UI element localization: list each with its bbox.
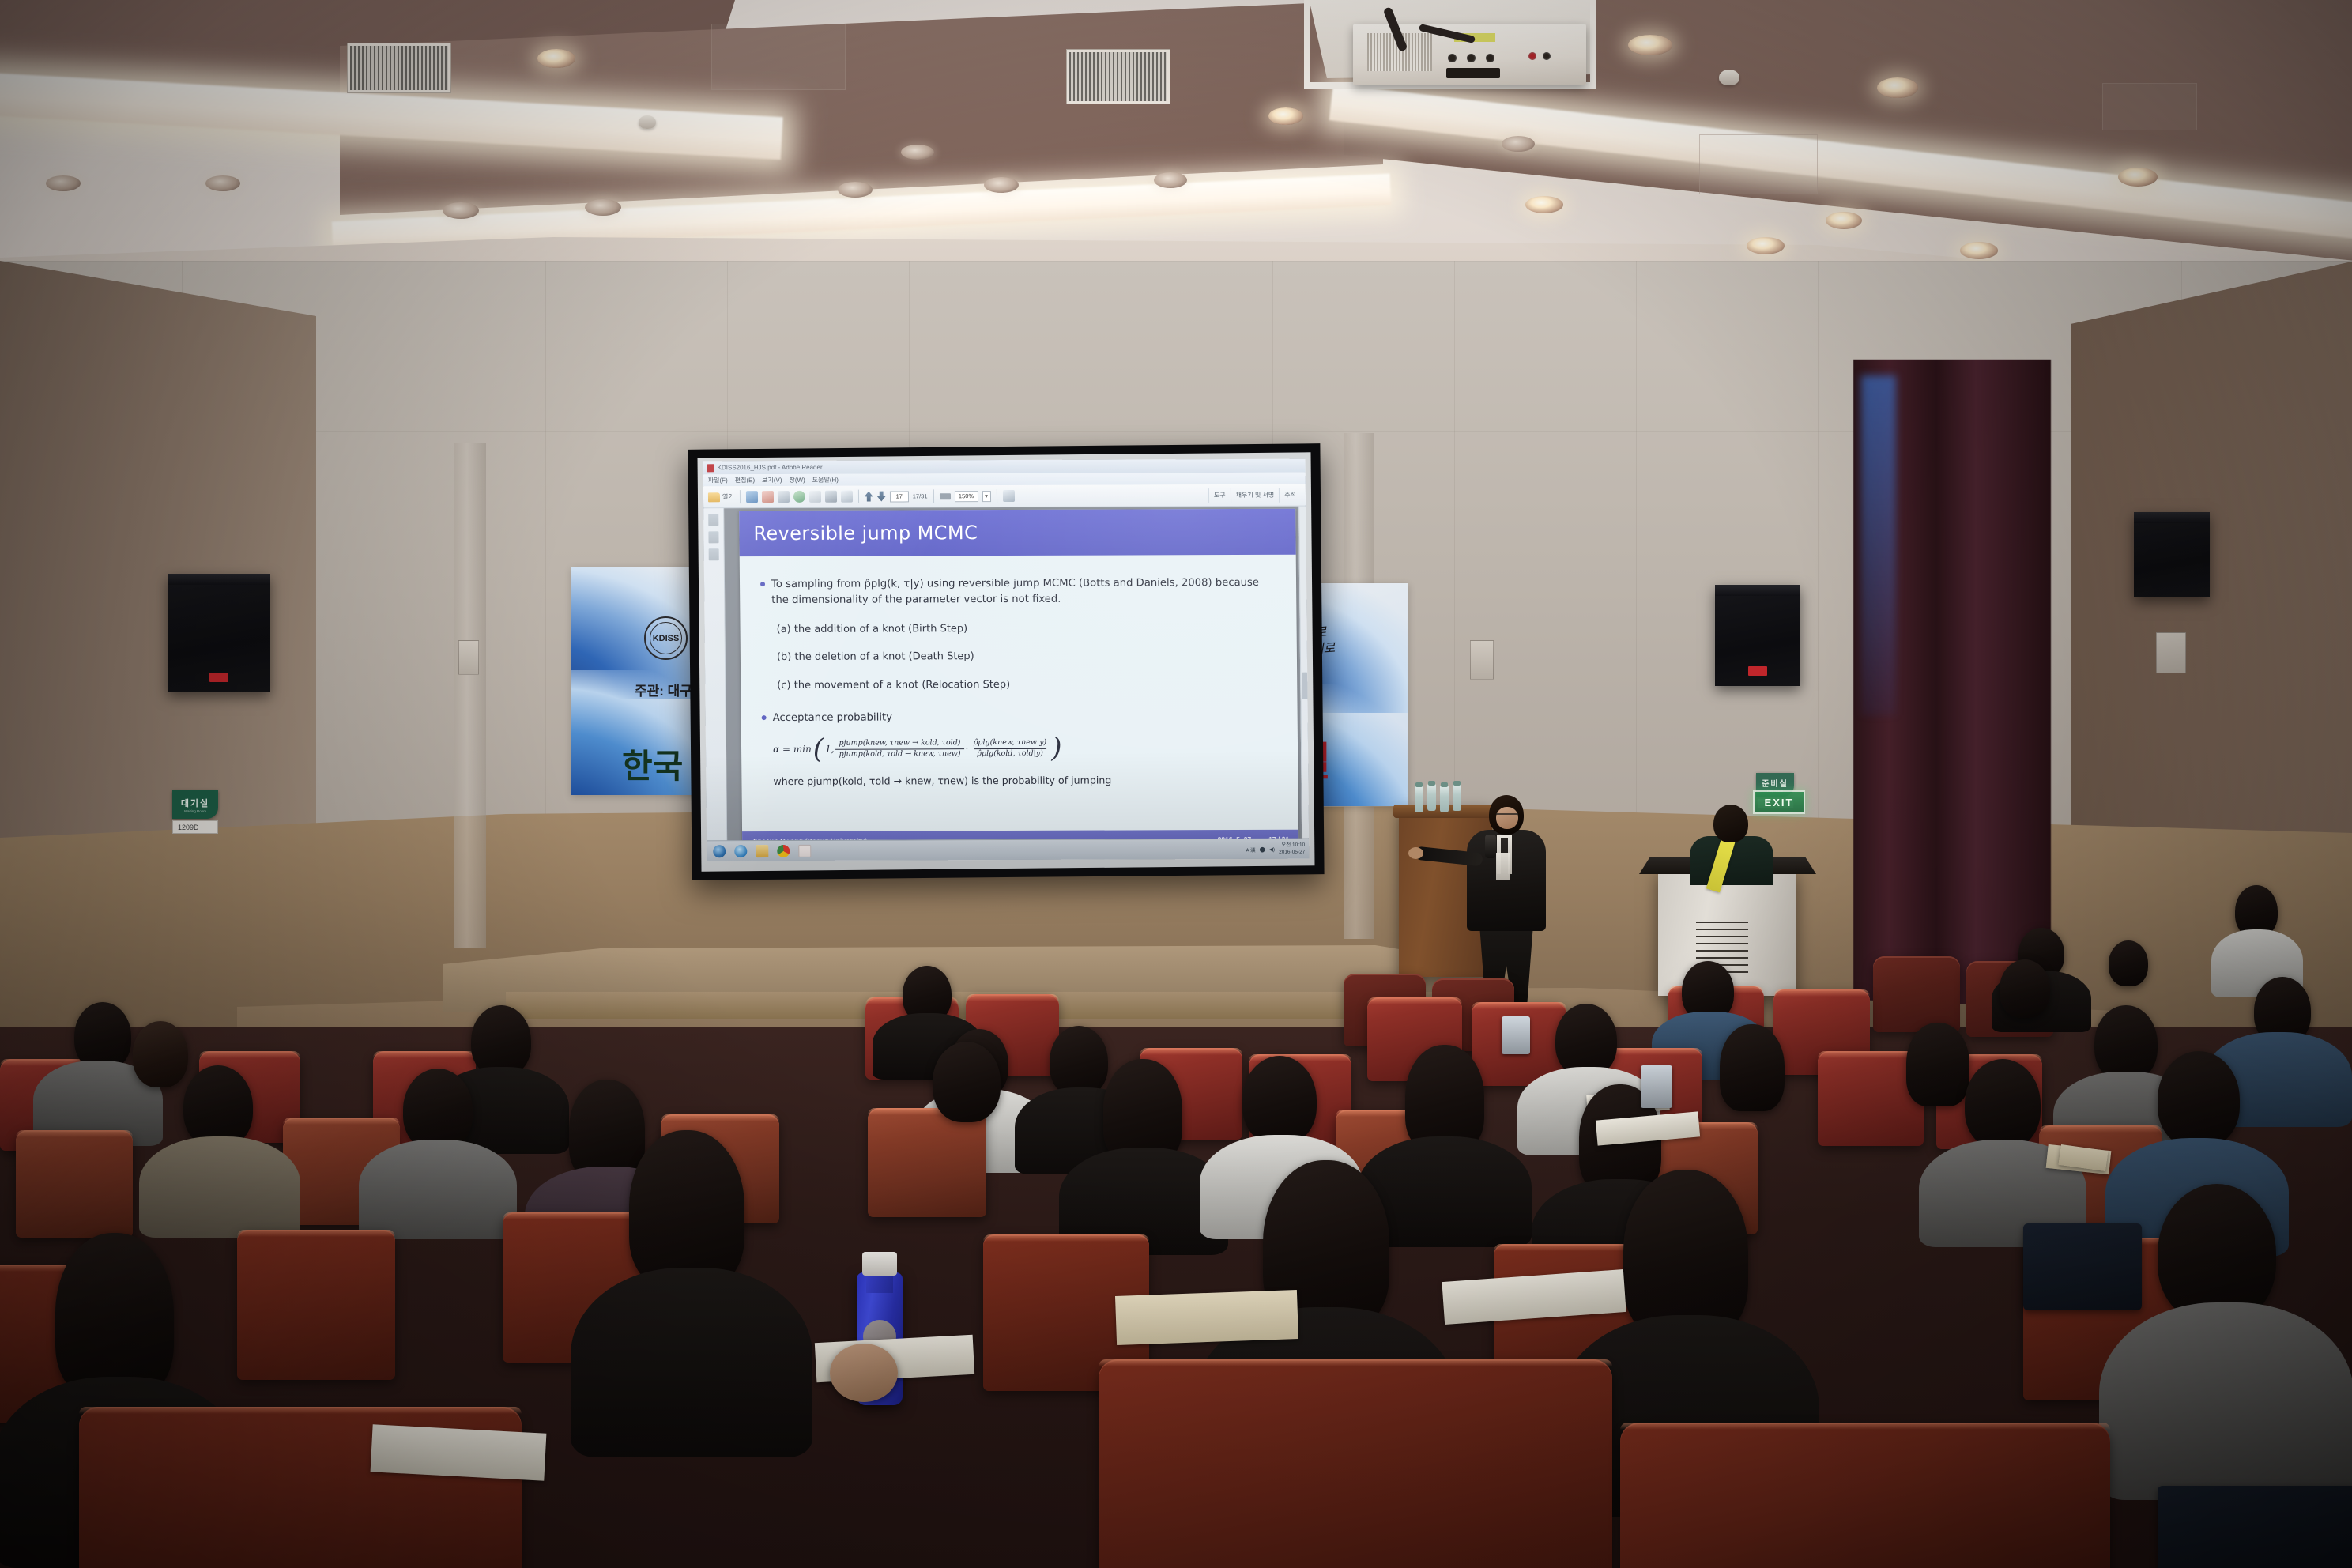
pdf-document-canvas[interactable]: Reversible jump MCMC To sampling from p̂… <box>724 507 1302 841</box>
seat[interactable] <box>1873 956 1960 1032</box>
hvac-vent-icon <box>348 43 450 92</box>
open-button-label: 열기 <box>722 492 734 501</box>
clock-time: 오전 10:10 <box>1281 842 1305 849</box>
seat-rim <box>16 1130 133 1137</box>
seat-rim <box>1472 1002 1566 1009</box>
seat-rim <box>373 1051 476 1058</box>
toolbar-separator <box>996 489 997 503</box>
seat[interactable] <box>1099 1359 1612 1568</box>
page-number-input[interactable]: 17 <box>890 491 909 502</box>
smartphone[interactable] <box>1502 1016 1530 1054</box>
menu-item-help[interactable]: 도움말(H) <box>812 476 839 484</box>
attendee-head <box>629 1130 744 1288</box>
attendee-head <box>1623 1170 1748 1339</box>
kdiss-seal-logo: KDISS <box>644 616 688 660</box>
wall-switch-plate[interactable] <box>458 640 479 675</box>
projector-lens-icon <box>1446 68 1500 78</box>
smartphone[interactable] <box>1641 1065 1672 1108</box>
page-total-label: 17/31 <box>913 492 928 499</box>
staff-member-head <box>1713 805 1748 842</box>
tools-button[interactable]: 도구 <box>1208 488 1231 503</box>
ceiling-access-panel <box>2102 83 2197 130</box>
curtain-blue-light <box>1861 375 1896 715</box>
tray-volume-icon[interactable]: ◀) <box>1269 846 1275 852</box>
projector-port-red <box>1528 52 1536 60</box>
wall-speaker-left <box>168 574 270 692</box>
seat[interactable] <box>868 1108 986 1217</box>
projector-port <box>1486 54 1494 62</box>
fit-page-icon[interactable] <box>1002 490 1014 502</box>
attendee-shoulders <box>359 1140 517 1239</box>
fill-and-sign-button[interactable]: 채우기 및 서명 <box>1231 488 1280 502</box>
attendee-head <box>1242 1056 1317 1144</box>
scrollbar-thumb[interactable] <box>1302 673 1307 699</box>
ceiling-downlight <box>537 49 575 68</box>
attendee-head <box>2158 1051 2240 1148</box>
screen-surface: KDISS2016_HJS.pdf - Adobe Reader – □ ✕ 파… <box>698 452 1315 871</box>
slide-bullet-2: Acceptance probability <box>762 709 1274 726</box>
seat-rim <box>661 1114 779 1121</box>
exit-sign: EXIT <box>1753 790 1805 814</box>
formula-dot: · <box>965 744 968 755</box>
ceiling-downlight <box>2118 168 2158 187</box>
water-bottle <box>1453 784 1461 811</box>
attendee-head <box>933 1042 1001 1122</box>
toolbar-separator <box>740 490 741 503</box>
menu-item-edit[interactable]: 편집(E) <box>735 476 755 484</box>
comment-button[interactable]: 주석 <box>1279 488 1301 502</box>
seat-rim <box>1367 997 1462 1004</box>
wall-speaker-right <box>1715 585 1800 686</box>
ceiling-downlight <box>46 175 81 191</box>
speaker-top <box>168 574 270 585</box>
slide-bullet-1-text: To sampling from p̂plg(k, τ|y) using rev… <box>771 575 1272 609</box>
slide-title: Reversible jump MCMC <box>739 509 1296 556</box>
laptop-bag[interactable] <box>2023 1223 2142 1310</box>
projection-screen: KDISS2016_HJS.pdf - Adobe Reader – □ ✕ 파… <box>688 443 1324 880</box>
formula-one: 1, <box>825 744 835 755</box>
menu-item-file[interactable]: 파일(F) <box>708 476 728 484</box>
system-tray[interactable]: A 漢 ⬤ ◀) 오전 10:10 2016-05-27 <box>1246 842 1309 856</box>
attendee-head <box>133 1021 188 1087</box>
ceiling-downlight <box>1826 212 1862 229</box>
folder-icon <box>708 492 720 502</box>
attendee-shoulders <box>139 1136 300 1238</box>
slide-subitem-b: (b) the deletion of a knot (Death Step) <box>777 648 1273 665</box>
seat-rim <box>983 1234 1149 1242</box>
ceiling-downlight <box>1502 136 1535 152</box>
seat-rim <box>1620 1423 2110 1430</box>
seal-inner-ring <box>650 622 682 654</box>
adobe-reader-window: KDISS2016_HJS.pdf - Adobe Reader – □ ✕ 파… <box>703 459 1310 861</box>
presentation-slide: Reversible jump MCMC To sampling from p̂… <box>739 509 1298 841</box>
save-copy-icon[interactable] <box>809 491 821 503</box>
wall-speaker-far-right <box>2134 512 2210 597</box>
waiting-room-number: 1209D <box>172 820 218 834</box>
toolbar-right-group[interactable]: 도구 채우기 및 서명 주석 <box>1208 488 1301 502</box>
attendee-head <box>2094 1005 2158 1081</box>
projector-port <box>1467 54 1476 62</box>
attendee-head <box>1906 1023 1969 1106</box>
internet-explorer-icon[interactable] <box>734 845 747 857</box>
bullet-dot-icon <box>762 715 767 720</box>
speaker-top <box>1715 585 1800 596</box>
ceiling-downlight <box>443 202 479 219</box>
water-bottle <box>1440 786 1449 812</box>
hvac-vent-icon <box>1067 50 1170 104</box>
ceiling-downlight <box>984 177 1019 193</box>
acceptance-probability-formula: α = min ( 1, pjump(knew, τnew → kold, τo… <box>773 737 1274 760</box>
seat-rim <box>199 1051 300 1058</box>
prep-room-sign-kr: 준비실 <box>1762 777 1788 789</box>
menu-item-window[interactable]: 창(W) <box>789 476 805 484</box>
seat-rim <box>2039 1125 2162 1133</box>
ceiling-access-panel <box>711 24 846 90</box>
save-icon[interactable] <box>746 491 758 503</box>
zoom-level-input[interactable]: 150% <box>954 491 978 502</box>
formula-frac1-denominator: pjump(kold, τold → knew, τnew) <box>836 748 964 759</box>
seat-rim <box>79 1407 522 1414</box>
edit-pdf-icon[interactable] <box>778 491 790 503</box>
slide-bullet-2-text: Acceptance probability <box>773 710 893 726</box>
handout-paper[interactable] <box>1115 1290 1298 1345</box>
menu-item-view[interactable]: 보기(V) <box>762 476 782 484</box>
microphone-icon <box>1485 835 1496 858</box>
bottle-cap <box>1415 782 1423 787</box>
seat[interactable] <box>16 1130 133 1238</box>
formula-frac2-numerator: p̂plg(knew, τnew|y) <box>970 739 1050 748</box>
formula-frac2-denominator: p̂plg(kold, τold|y) <box>974 748 1046 759</box>
seat-rim <box>237 1230 395 1237</box>
attendee-head <box>2109 940 2148 986</box>
pdf-icon <box>707 464 714 472</box>
bottle-cap <box>1453 781 1461 786</box>
attendee-head <box>2000 959 2050 1018</box>
attachments-icon[interactable] <box>709 548 719 560</box>
wall-switch-plate[interactable] <box>2156 632 2186 673</box>
jbl-logo-icon <box>209 673 228 682</box>
waiting-room-sign-kr: 대기실 <box>181 797 209 809</box>
ceiling-downlight <box>901 145 934 160</box>
ceiling-downlight <box>1154 172 1187 188</box>
presenter-glasses-icon <box>1496 813 1518 819</box>
ceiling-downlight <box>1960 242 1998 259</box>
bottle-cap <box>1441 782 1448 787</box>
slide-bullet-1: To sampling from p̂plg(k, τ|y) using rev… <box>760 575 1272 609</box>
ceiling-downlight <box>1628 35 1672 55</box>
ceiling-downlight <box>1268 107 1303 125</box>
seat-rim <box>1140 1048 1242 1055</box>
ceiling-access-panel <box>1699 134 1818 194</box>
tray-network-icon[interactable]: ⬤ <box>1260 846 1265 852</box>
tray-ime-icon[interactable]: A 漢 <box>1246 845 1255 853</box>
banner-left-line1: 주관: 대구 <box>635 680 692 699</box>
email-icon[interactable] <box>841 491 853 503</box>
smoke-detector-icon <box>639 115 656 129</box>
formula-frac1-numerator: pjump(knew, τnew → kold, τold) <box>835 739 963 748</box>
print-icon[interactable] <box>825 491 837 503</box>
formula-fraction-2: p̂plg(knew, τnew|y) p̂plg(kold, τold|y) <box>970 739 1050 759</box>
start-orb-icon[interactable] <box>713 845 726 857</box>
handout-paper[interactable] <box>371 1424 547 1480</box>
seat-rim <box>966 994 1059 1001</box>
formula-close-paren: ) <box>1051 738 1062 759</box>
toolbar-separator <box>933 489 933 503</box>
seat-rim <box>1773 989 1870 997</box>
clock-date: 2016-05-27 <box>1279 849 1305 855</box>
attendee-shoulders <box>571 1268 812 1457</box>
formula-lhs: α = min <box>773 744 812 755</box>
ceiling-downlight <box>205 175 240 191</box>
projector-port <box>1448 54 1457 62</box>
attendee-head <box>55 1233 174 1399</box>
smoke-detector-icon <box>1719 70 1739 85</box>
ceiling-downlight <box>1525 196 1563 213</box>
attendee-face <box>830 1344 898 1402</box>
formula-open-paren: ( <box>813 739 824 760</box>
projector-port <box>1543 52 1551 60</box>
water-bottle <box>1427 784 1436 811</box>
toolbar[interactable]: 열기 17 17/31 150% <box>703 484 1306 509</box>
banner-left-line2: 한국 <box>622 740 683 788</box>
formula-where-text: where pjump(kold, τold → knew, τnew) is … <box>773 773 1274 790</box>
explorer-icon[interactable] <box>756 845 768 857</box>
attendee-head <box>569 1080 645 1181</box>
wall-switch-plate[interactable] <box>1470 640 1494 680</box>
open-button[interactable]: 열기 <box>708 492 734 502</box>
waiting-room-sign: 대기실 Waiting Room <box>172 790 218 819</box>
waiting-room-sign-en: Waiting Room <box>184 809 206 813</box>
laptop-bag[interactable] <box>2158 1486 2352 1568</box>
zoom-out-icon[interactable] <box>939 493 950 499</box>
slide-body: To sampling from p̂plg(k, τ|y) using rev… <box>740 555 1298 831</box>
bookmarks-icon[interactable] <box>708 531 718 543</box>
attendee-head <box>183 1065 253 1148</box>
ceiling-downlight <box>1747 237 1785 254</box>
create-pdf-icon[interactable] <box>762 491 774 503</box>
ceiling-downlight <box>1877 77 1918 98</box>
slide-subitem-a: (a) the addition of a knot (Birth Step) <box>776 620 1272 637</box>
speaker-top <box>2134 512 2210 523</box>
ceiling-downlight <box>838 182 873 198</box>
seat-rim <box>283 1118 400 1125</box>
taskbar-clock[interactable]: 오전 10:10 2016-05-27 <box>1279 842 1305 855</box>
presenter-badge-lanyard <box>1496 853 1510 880</box>
arrow-down-icon[interactable] <box>877 492 886 502</box>
window-title-text: KDISS2016_HJS.pdf - Adobe Reader <box>718 464 823 471</box>
slide-subitem-c: (c) the movement of a knot (Relocation S… <box>777 676 1273 693</box>
attendee-head <box>1965 1059 2041 1149</box>
presenter-hand <box>1408 847 1423 859</box>
windows-taskbar[interactable]: A 漢 ⬤ ◀) 오전 10:10 2016-05-27 <box>707 839 1309 861</box>
navigation-pane[interactable] <box>703 508 727 840</box>
adobe-reader-icon[interactable] <box>798 844 811 857</box>
bullet-dot-icon <box>760 582 765 586</box>
jbl-logo-icon <box>1748 666 1767 676</box>
formula-fraction-1: pjump(knew, τnew → kold, τold) pjump(kol… <box>835 739 963 759</box>
attendee-head <box>1555 1004 1617 1076</box>
zoom-dropdown-icon[interactable]: ▾ <box>982 491 990 502</box>
toolbar-separator <box>858 490 859 503</box>
bottle-cap <box>862 1252 897 1276</box>
auditorium-photo: KDISS 주관: 대구 한국 과 함께 미래로 역과 함께 세계로 미레테크 … <box>0 0 2352 1568</box>
attendee-head <box>403 1069 473 1151</box>
chrome-icon[interactable] <box>777 844 790 857</box>
bottle-cap <box>1428 781 1435 786</box>
seat[interactable] <box>237 1230 395 1380</box>
attendee-head <box>1720 1024 1785 1111</box>
cloud-upload-icon[interactable] <box>793 491 805 503</box>
seat-rim <box>1099 1359 1612 1366</box>
water-bottle <box>1415 786 1423 812</box>
wall-pillar <box>454 443 486 948</box>
seat[interactable] <box>1620 1423 2110 1568</box>
attendee-head <box>1050 1026 1108 1097</box>
attendee-shoulders <box>2099 1302 2352 1500</box>
page-thumbnails-icon[interactable] <box>708 514 718 526</box>
arrow-up-icon[interactable] <box>865 492 873 502</box>
attendee-head <box>471 1005 531 1076</box>
ceiling-downlight <box>585 199 621 216</box>
